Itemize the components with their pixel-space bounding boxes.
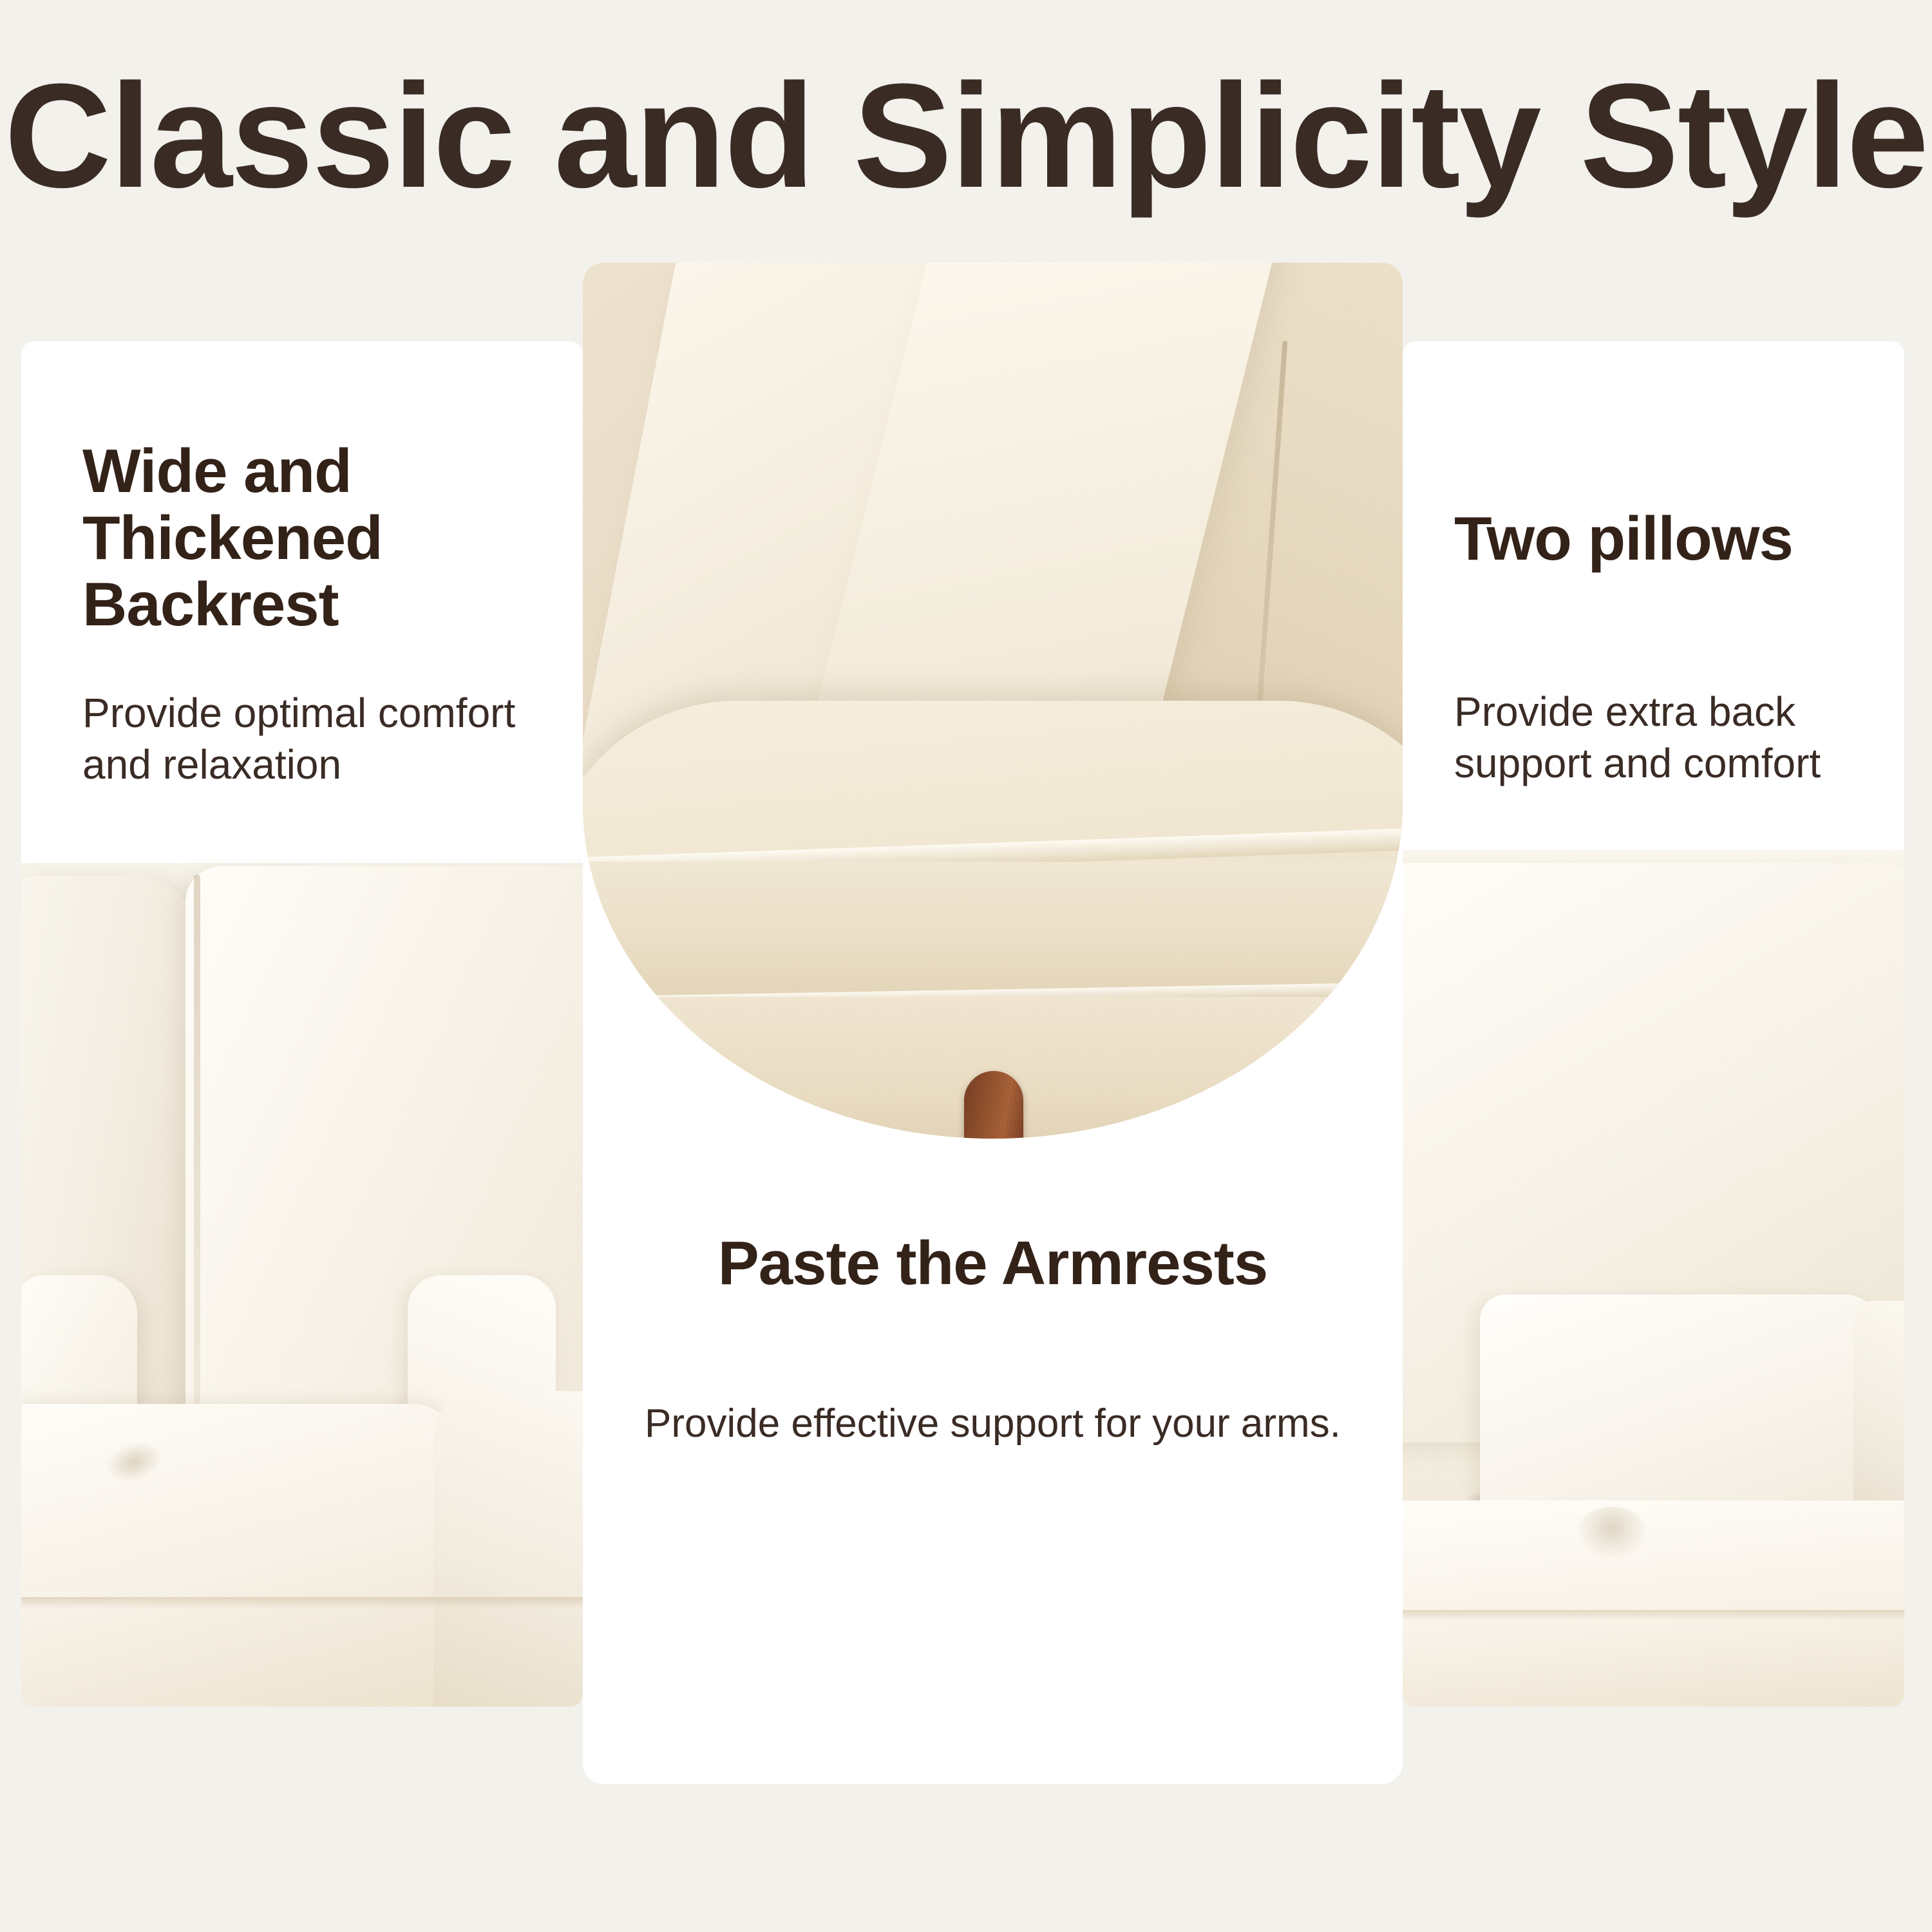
seat-cushion-right-icon: [1403, 1501, 1904, 1707]
photo-sofa-armrest-center: [583, 263, 1403, 1139]
feature-card-left: Wide and Thickened Backrest Provide opti…: [21, 341, 583, 1707]
photo-sofa-backrest-left: [21, 863, 583, 1707]
wooden-leg-icon: [964, 1071, 1023, 1139]
feature-subtext-left: Provide optimal comfort and relaxation: [82, 687, 559, 790]
feature-heading-left: Wide and Thickened Backrest: [82, 438, 559, 638]
feature-subtext-right: Provide extra back support and comfort: [1454, 686, 1904, 789]
feature-card-right: Two pillows Provide extra back support a…: [1403, 341, 1904, 1707]
feature-text-left: Wide and Thickened Backrest Provide opti…: [82, 438, 559, 790]
infographic-stage: Classic and Simplicity Style Wide and Th…: [0, 0, 1932, 1932]
feature-heading-center: Paste the Armrests: [621, 1229, 1364, 1298]
feature-text-center: Paste the Armrests Provide effective sup…: [621, 1229, 1364, 1450]
feature-text-right: Two pillows Provide extra back support a…: [1454, 506, 1904, 789]
photo-sofa-pillow-right: [1403, 850, 1904, 1707]
feature-card-center: Paste the Armrests Provide effective sup…: [583, 263, 1403, 1784]
feature-heading-right: Two pillows: [1454, 506, 1904, 573]
seat-cushion-icon: [21, 1404, 453, 1707]
page-title: Classic and Simplicity Style: [0, 62, 1932, 210]
feature-subtext-center: Provide effective support for your arms.: [621, 1398, 1364, 1450]
